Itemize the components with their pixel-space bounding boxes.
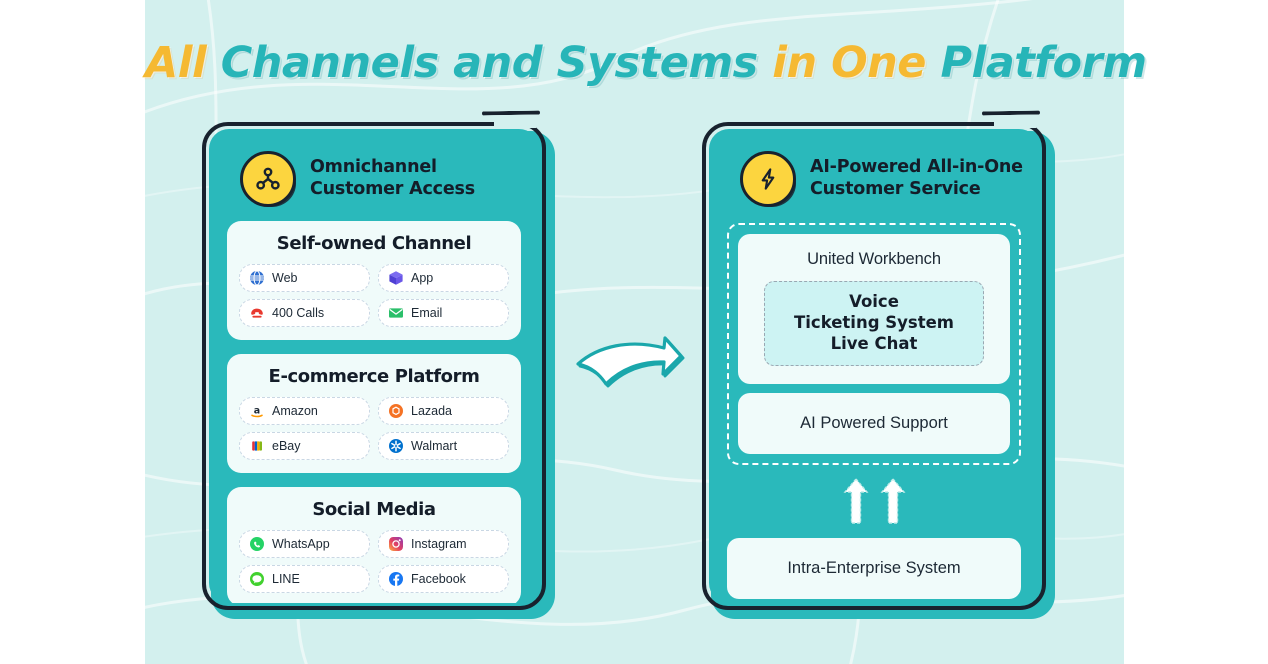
card-title-line2: Customer Access [310,179,475,201]
cube-icon [388,270,404,286]
chip-grid: Web App [239,264,509,327]
facebook-icon [388,571,404,587]
uplink-arrows [709,477,1039,525]
group-title: E-commerce Platform [239,366,509,387]
group-title: Self-owned Channel [239,233,509,254]
card-title-line1: AI-Powered All-in-One [810,157,1023,177]
chip-amazon[interactable]: a Amazon [239,397,370,425]
line-icon [249,571,265,587]
title-word-platform: Platform [940,38,1146,88]
chip-label: Facebook [411,572,466,586]
chip-grid: a Amazon Lazada [239,397,509,460]
card-outline-gap [494,118,536,128]
chip-grid: WhatsApp [239,530,509,593]
lightning-bolt-icon [740,151,796,207]
card-title: Omnichannel Customer Access [310,157,475,201]
group-e-commerce-platform: E-commerce Platform a Amazon [227,354,521,473]
chip-instagram[interactable]: Instagram [378,530,509,558]
title-word-all: All [145,38,206,88]
card-outline-gap [994,118,1036,128]
card-screen: Omnichannel Customer Access Self-owned C… [209,129,539,603]
chip-walmart[interactable]: Walmart [378,432,509,460]
chip-400-calls[interactable]: 400 Calls [239,299,370,327]
card-title-line1: Omnichannel [310,157,437,177]
chip-line[interactable]: LINE [239,565,370,593]
chip-label: eBay [272,439,301,453]
chip-label: Web [272,271,297,285]
curved-arrow-right-icon [566,328,692,434]
share-network-icon [240,151,296,207]
feature-voice: Voice [773,292,975,313]
instagram-icon [388,536,404,552]
globe-icon [249,270,265,286]
chip-whatsapp[interactable]: WhatsApp [239,530,370,558]
amazon-icon: a [249,403,265,419]
united-workbench-panel: United Workbench Voice Ticketing System … [738,234,1010,384]
workbench-features: Voice Ticketing System Live Chat [764,281,984,366]
chip-email[interactable]: Email [378,299,509,327]
svg-text:a: a [254,405,260,416]
card-header: Omnichannel Customer Access [209,129,539,207]
ai-powered-support-panel: AI Powered Support [738,393,1010,454]
chip-ebay[interactable]: eBay [239,432,370,460]
group-title: Social Media [239,499,509,520]
chip-label: Lazada [411,404,452,418]
title-word-one: One [831,38,926,88]
card-title: AI-Powered All-in-One Customer Service [810,157,1023,201]
page-title: All Channels and Systems in One Platform [145,38,1124,88]
chip-label: Instagram [411,537,467,551]
envelope-icon [388,305,404,321]
chip-web[interactable]: Web [239,264,370,292]
chip-label: Email [411,306,442,320]
card-header: AI-Powered All-in-One Customer Service [709,129,1039,207]
infographic-canvas: All Channels and Systems in One Platform [0,0,1268,664]
title-word-and: and [453,38,542,88]
workbench-label: United Workbench [750,250,998,269]
chip-label: Amazon [272,404,318,418]
chip-app[interactable]: App [378,264,509,292]
arrow-up-icon [880,477,906,525]
arrow-up-icon [843,477,869,525]
workbench-container: United Workbench Voice Ticketing System … [727,223,1021,465]
feature-live-chat: Live Chat [773,334,975,355]
chip-facebook[interactable]: Facebook [378,565,509,593]
group-social-media: Social Media WhatsApp [227,487,521,603]
lazada-icon [388,403,404,419]
chip-label: WhatsApp [272,537,330,551]
walmart-icon [388,438,404,454]
chip-label: 400 Calls [272,306,324,320]
telephone-icon [249,305,265,321]
feature-ticketing: Ticketing System [773,313,975,334]
chip-label: Walmart [411,439,457,453]
omnichannel-card: Omnichannel Customer Access Self-owned C… [202,122,546,610]
ai-service-card: AI-Powered All-in-One Customer Service U… [702,122,1046,610]
group-self-owned-channel: Self-owned Channel Web [227,221,521,340]
title-word-in: in [772,38,816,88]
title-word-systems: Systems [557,38,758,88]
whatsapp-icon [249,536,265,552]
card-title-line2: Customer Service [810,179,1023,201]
intra-enterprise-system-panel: Intra-Enterprise System [727,538,1021,599]
ebay-icon [249,438,265,454]
chip-label: LINE [272,572,300,586]
card-screen: AI-Powered All-in-One Customer Service U… [709,129,1039,603]
title-word-channels: Channels [221,38,439,88]
chip-lazada[interactable]: Lazada [378,397,509,425]
chip-label: App [411,271,433,285]
